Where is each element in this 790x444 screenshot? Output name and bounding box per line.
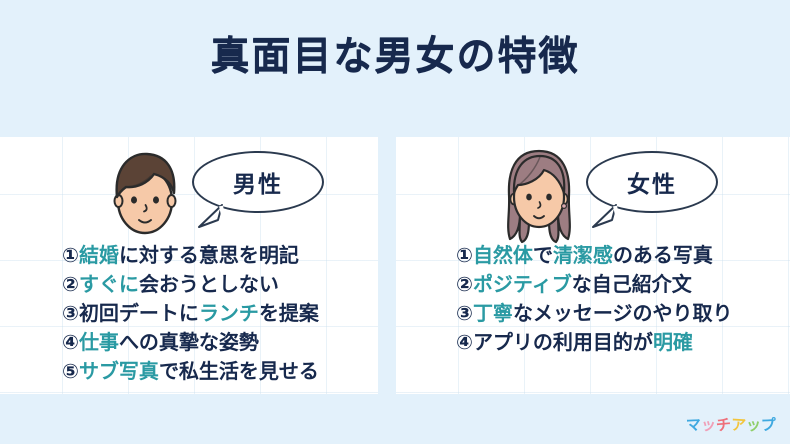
list-item-number: ② (456, 272, 473, 296)
card-male: 男性 ①結婚に対する意思を明記 ②すぐに会おうとしない ③初回デートにランチを提… (0, 137, 378, 394)
list-item-text: 会おうとしない (139, 272, 279, 296)
cards-container: 男性 ①結婚に対する意思を明記 ②すぐに会おうとしない ③初回デートにランチを提… (0, 137, 790, 394)
list-item-keyword: 結婚 (79, 243, 119, 267)
list-item-text: で (533, 243, 553, 267)
list-item-number: ① (62, 243, 79, 267)
speech-bubble-tail-female (590, 203, 620, 229)
list-item-keyword: 丁寧 (473, 301, 513, 325)
list-item-number: ③ (456, 301, 473, 325)
avatar-row-female: 女性 (396, 141, 790, 249)
male-face-avatar-icon (104, 143, 186, 247)
female-face-avatar-icon (496, 143, 582, 247)
list-item-text: を提案 (259, 301, 319, 325)
logo-char: マ (685, 414, 701, 436)
list-item: ③初回デートにランチを提案 (62, 299, 319, 328)
list-item-number: ⑤ (62, 359, 79, 383)
logo-char: ッ (700, 414, 716, 436)
list-item-text: に対する意思を明記 (119, 243, 299, 267)
list-item: ⑤サブ写真で私生活を見せる (62, 357, 319, 386)
list-item-text: で私生活を見せる (159, 359, 319, 383)
list-item-number: ④ (62, 330, 79, 354)
avatar-row-male: 男性 (0, 141, 378, 249)
list-item: ①自然体で清潔感のある写真 (456, 241, 733, 270)
speech-bubble-tail-male (196, 203, 226, 229)
infographic-canvas: 真面目な男女の特徴 (0, 0, 790, 444)
list-item-text: 初回デートに (79, 301, 199, 325)
list-item-text: な自己紹介文 (572, 272, 692, 296)
list-item-text: のある写真 (613, 243, 713, 267)
list-item-number: ② (62, 272, 79, 296)
list-item: ③丁寧なメッセージのやり取り (456, 299, 733, 328)
brand-logo[interactable]: マッチアップ (686, 414, 776, 435)
list-item: ④仕事への真摯な姿勢 (62, 328, 319, 357)
list-item-keyword: ランチ (199, 301, 259, 325)
feature-list-male: ①結婚に対する意思を明記 ②すぐに会おうとしない ③初回デートにランチを提案 ④… (62, 241, 319, 386)
list-item-text: なメッセージのやり取り (513, 301, 733, 325)
list-item-text: アプリの利用目的が (473, 330, 653, 354)
list-item-keyword: ポジティブ (473, 272, 572, 296)
list-item-keyword: すぐに (79, 272, 139, 296)
list-item-keyword: サブ写真 (79, 359, 159, 383)
logo-char: プ (760, 414, 776, 436)
list-item-keyword: 清潔感 (553, 243, 613, 267)
logo-char: ア (730, 414, 746, 436)
list-item: ②ポジティブな自己紹介文 (456, 270, 733, 299)
card-female: 女性 ①自然体で清潔感のある写真 ②ポジティブな自己紹介文 ③丁寧なメッセージの… (396, 137, 790, 394)
feature-list-female: ①自然体で清潔感のある写真 ②ポジティブな自己紹介文 ③丁寧なメッセージのやり取… (456, 241, 733, 357)
list-item-number: ① (456, 243, 473, 267)
list-item-number: ③ (62, 301, 79, 325)
list-item-number: ④ (456, 330, 473, 354)
list-item: ①結婚に対する意思を明記 (62, 241, 319, 270)
list-item-keyword: 仕事 (79, 330, 119, 354)
logo-char: チ (715, 413, 732, 435)
list-item-keyword: 自然体 (473, 243, 533, 267)
list-item: ④アプリの利用目的が明確 (456, 328, 733, 357)
page-title: 真面目な男女の特徴 (0, 36, 790, 79)
logo-char: ッ (746, 414, 762, 436)
list-item-keyword: 明確 (653, 330, 693, 354)
list-item: ②すぐに会おうとしない (62, 270, 319, 299)
list-item-text: への真摯な姿勢 (119, 330, 259, 354)
